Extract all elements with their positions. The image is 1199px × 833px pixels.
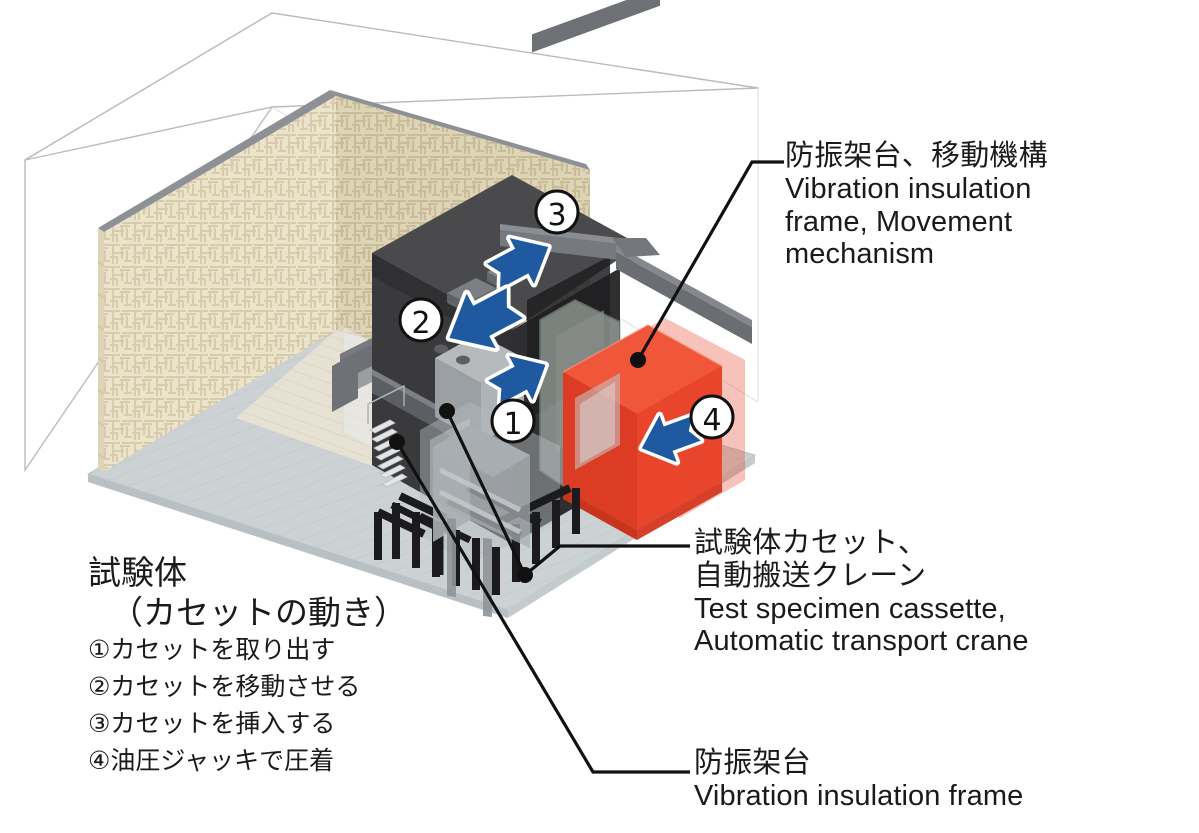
callout-vib-frame-en-1: Vibration insulation frame (694, 780, 1023, 813)
svg-text:4: 4 (702, 403, 721, 438)
legend-title-line-1: 試験体 (88, 553, 407, 593)
step-marker-3: 3 (536, 191, 578, 233)
callout-label-cassette-crane: 試験体カセット、 自動搬送クレーン Test specimen cassette… (694, 527, 1029, 658)
legend-item-2: ②カセットを移動させる (88, 669, 407, 706)
callout-label-vibration-frame: 防振架台 Vibration insulation frame (694, 747, 1023, 813)
legend-item-1: ①カセットを取り出す (88, 632, 407, 669)
callout-vib-move-en-3: mechanism (785, 238, 1048, 271)
step-marker-4: 4 (691, 396, 733, 438)
callout-label-vibration-movement: 防振架台、移動機構 Vibration insulation frame, Mo… (785, 140, 1048, 271)
callout-cassette-jp-2: 自動搬送クレーン (694, 560, 1029, 593)
callout-vib-move-jp: 防振架台、移動機構 (785, 140, 1048, 173)
legend-block: 試験体 （カセットの動き） ①カセットを取り出す ②カセットを移動させる ③カセ… (88, 553, 407, 780)
step-marker-1: 1 (492, 400, 534, 442)
callout-cassette-en-2: Automatic transport crane (694, 625, 1029, 658)
legend-item-3: ③カセットを挿入する (88, 706, 407, 743)
callout-cassette-jp-1: 試験体カセット、 (694, 527, 1029, 560)
svg-text:2: 2 (411, 306, 430, 341)
svg-text:3: 3 (547, 198, 566, 233)
legend-item-4: ④油圧ジャッキで圧着 (88, 743, 407, 780)
callout-cassette-en-1: Test specimen cassette, (694, 593, 1029, 626)
legend-title-line-2: （カセットの動き） (88, 593, 407, 633)
callout-vib-frame-jp: 防振架台 (694, 747, 1023, 780)
callout-vib-move-en-2: frame, Movement (785, 206, 1048, 239)
callout-vib-move-en-1: Vibration insulation (785, 173, 1048, 206)
svg-text:1: 1 (503, 407, 522, 442)
diagram-stage: 3 2 1 4 防振架台、移動機構 Vibration insulation f… (0, 0, 1199, 833)
step-marker-2: 2 (400, 299, 442, 341)
